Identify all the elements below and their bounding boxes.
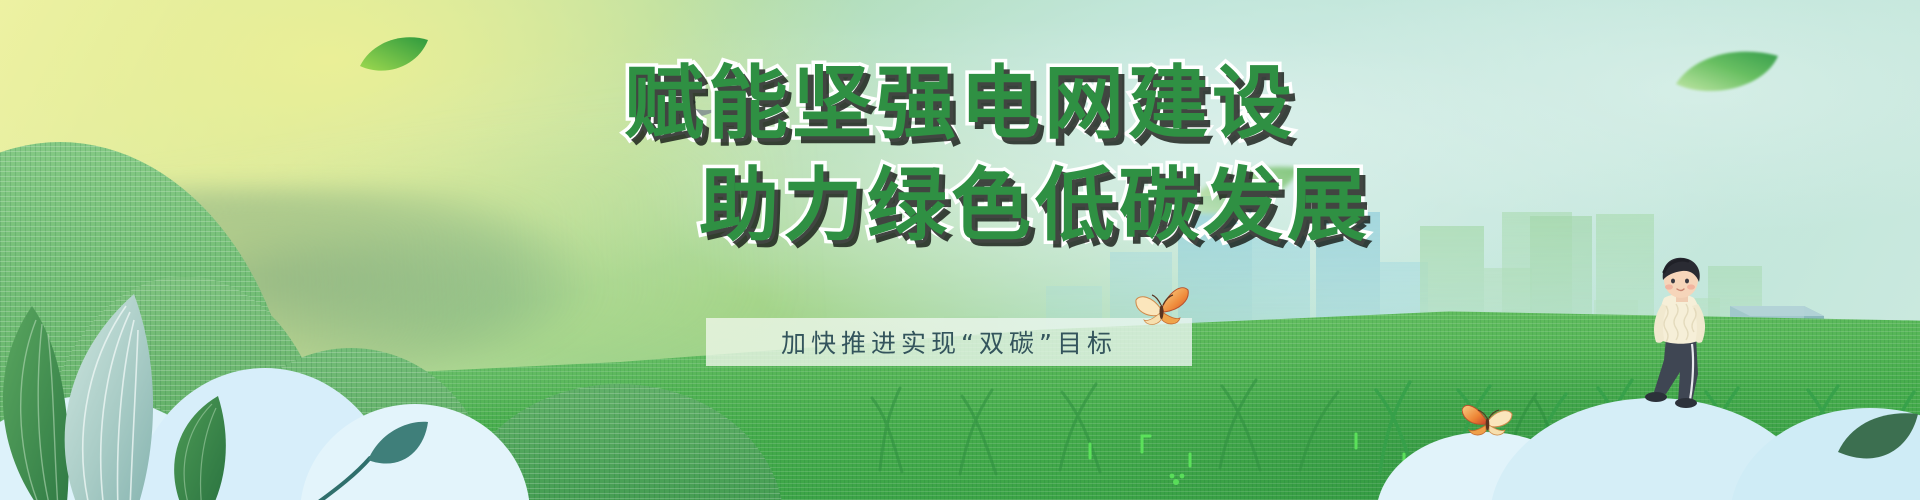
title-line-1: 赋能坚强电网建设	[0, 64, 1920, 144]
banner-title-group: 赋能坚强电网建设 助力绿色低碳发展	[0, 64, 1920, 246]
title-line-2: 助力绿色低碳发展	[0, 166, 1920, 246]
teal-stem-leaf	[312, 400, 432, 500]
banner-subtitle: 加快推进实现“双碳”目标	[706, 318, 1192, 366]
dark-leaf-right	[1836, 408, 1920, 478]
walking-person	[1636, 252, 1732, 410]
butterfly-right-icon	[1462, 398, 1514, 440]
butterfly-left-icon	[1134, 282, 1190, 330]
eco-banner: 赋能坚强电网建设 助力绿色低碳发展 加快推进实现“双碳”目标 green-low…	[0, 0, 1920, 500]
